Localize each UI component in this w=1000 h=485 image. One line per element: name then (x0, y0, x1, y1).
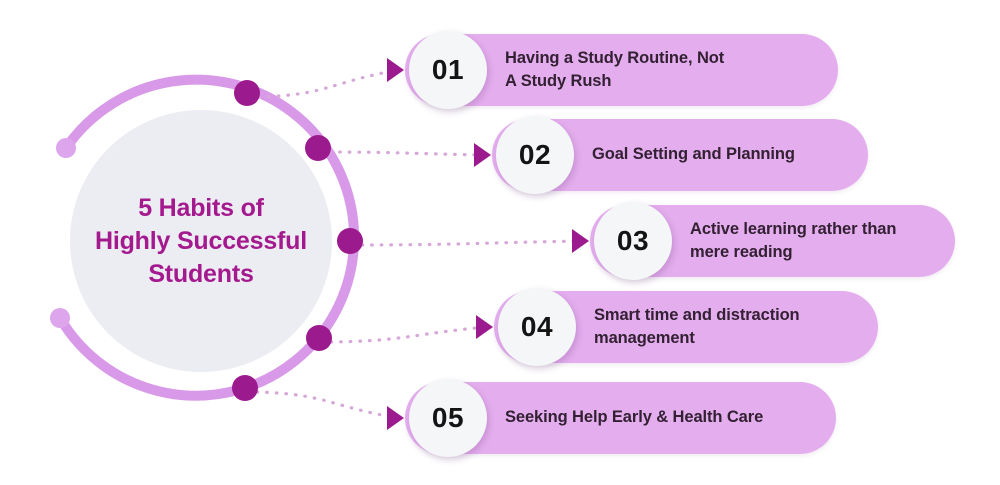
arrowhead-layer (0, 0, 1000, 485)
arrowhead-01 (387, 58, 404, 82)
arrowhead-03 (572, 229, 589, 253)
infographic-canvas: 5 Habits of Highly Successful Students 0… (0, 0, 1000, 485)
arrowhead-04 (476, 315, 493, 339)
arrowhead-05 (387, 406, 404, 430)
arrowhead-02 (474, 143, 491, 167)
